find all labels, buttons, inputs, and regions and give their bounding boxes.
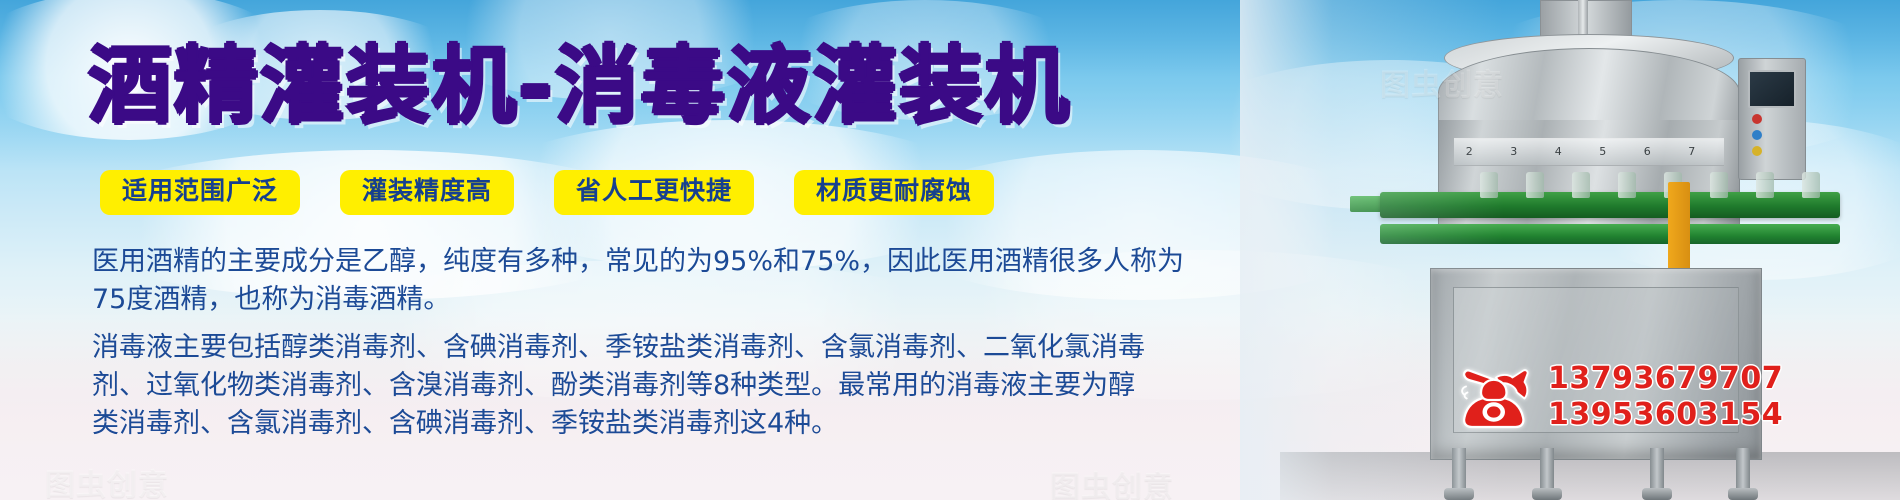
promo-banner: 2 3 4 5 6 7 酒精灌装机-消毒液灌装机 适用范 [0, 0, 1900, 500]
feature-tag-labor-saving: 省人工更快捷 [554, 170, 754, 215]
feature-tag-list: 适用范围广泛 灌装精度高 省人工更快捷 材质更耐腐蚀 [100, 170, 994, 215]
paragraph-disinfectant-line-2: 剂、过氧化物类消毒剂、含溴消毒剂、酚类消毒剂等8种类型。最常用的消毒液主要为醇 [92, 367, 1122, 405]
paragraph-alcohol-line-1: 医用酒精的主要成分是乙醇，纯度有多种，常见的为95%和75%，因此医用酒精很多人… [92, 243, 1122, 281]
paragraph-alcohol-line-2: 75度酒精，也称为消毒酒精。 [92, 281, 1122, 319]
phone-number-secondary[interactable]: 13953603154 [1548, 398, 1783, 432]
feature-tag-corrosion-resistant: 材质更耐腐蚀 [794, 170, 994, 215]
paragraph-disinfectant-line-1: 消毒液主要包括醇类消毒剂、含碘消毒剂、季铵盐类消毒剂、含氯消毒剂、二氧化氯消毒 [92, 329, 1122, 367]
contact-phone-block[interactable]: 13793679707 13953603154 [1458, 362, 1783, 431]
paragraph-disinfectant-line-3: 类消毒剂、含氯消毒剂、含碘消毒剂、季铵盐类消毒剂这4种。 [92, 405, 1122, 443]
page-title: 酒精灌装机-消毒液灌装机 [88, 44, 1071, 128]
feature-tag-filling-accuracy: 灌装精度高 [340, 170, 514, 215]
phone-number-list: 13793679707 13953603154 [1548, 362, 1783, 431]
description-block: 医用酒精的主要成分是乙醇，纯度有多种，常见的为95%和75%，因此医用酒精很多人… [92, 243, 1122, 443]
feature-tag-applicable-range: 适用范围广泛 [100, 170, 300, 215]
phone-number-primary[interactable]: 13793679707 [1548, 362, 1783, 396]
telephone-icon [1458, 364, 1534, 430]
